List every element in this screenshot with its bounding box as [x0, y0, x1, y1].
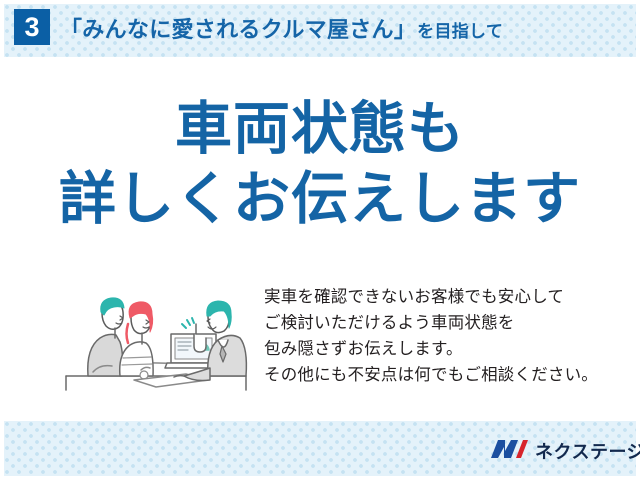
header-title: 「みんなに愛されるクルマ屋さん」 を目指して: [60, 12, 503, 44]
body-line-1: 実車を確認できないお客様でも安心して: [264, 284, 614, 310]
body-line-3: 包み隠さずお伝えします。: [264, 336, 614, 362]
step-number-badge: 3: [14, 9, 50, 45]
header-title-suffix: を目指して: [417, 17, 503, 42]
body-copy: 実車を確認できないお客様でも安心して ご検討いただけるよう車両状態を 包み隠さず…: [264, 284, 614, 388]
headline-line-2: 詳しくお伝えします: [0, 166, 640, 232]
body-line-4: その他にも不安点は何でもご相談ください。: [264, 362, 614, 388]
customer-consultation-illustration: [58, 276, 253, 394]
brand-name: ネクステージ: [535, 438, 640, 464]
body-line-2: ご検討いただけるよう車両状態を: [264, 310, 614, 336]
headline: 車両状態も 詳しくお伝えします: [0, 96, 640, 232]
headline-line-1: 車両状態も: [0, 96, 640, 162]
header-title-main: 「みんなに愛されるクルマ屋さん」: [60, 12, 416, 44]
promo-banner: 3 「みんなに愛されるクルマ屋さん」 を目指して 車両状態も 詳しくお伝えします: [0, 0, 640, 480]
nextage-n-logo-icon: [489, 437, 529, 466]
brand-logo: ネクステージ: [489, 438, 640, 464]
